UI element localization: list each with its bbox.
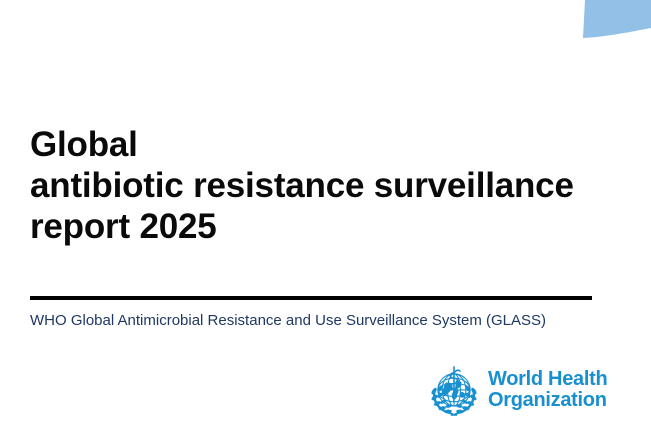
who-emblem-icon [427,362,481,419]
who-wordmark-line-2: Organization [488,390,607,411]
report-cover-page: Global antibiotic resistance surveillanc… [0,0,651,436]
title-line-1: Global [30,124,620,165]
who-wordmark-line-1: World Health [488,369,607,390]
subtitle: WHO Global Antimicrobial Resistance and … [30,311,546,331]
who-wordmark: World Health Organization [488,369,607,411]
page-title: Global antibiotic resistance surveillanc… [30,124,620,247]
who-logo: World Health Organization [427,361,607,419]
title-divider [30,296,592,300]
title-line-3: report 2025 [30,206,620,247]
blue-corner-swoosh-icon [555,0,651,46]
title-line-2: antibiotic resistance surveillance [30,165,620,206]
